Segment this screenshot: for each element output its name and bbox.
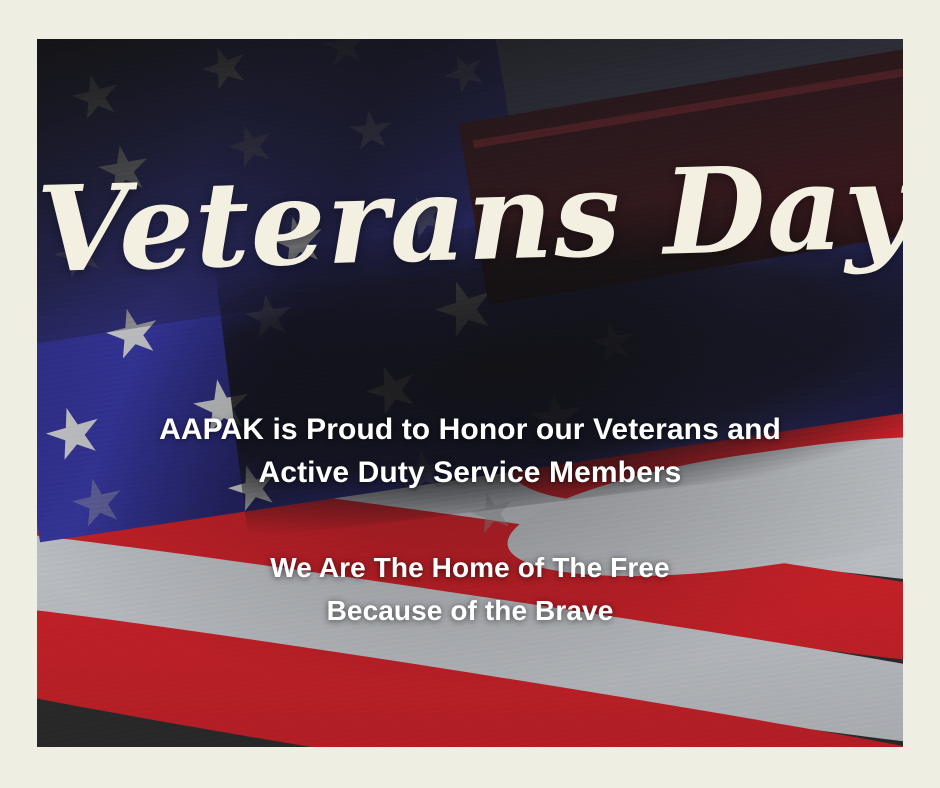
subline-line-1: We Are The Home of The Free bbox=[37, 547, 903, 590]
subline-line-2: Because of the Brave bbox=[37, 590, 903, 633]
page-title: Veterans Day bbox=[37, 147, 903, 289]
headline-line-2: Active Duty Service Members bbox=[37, 452, 903, 495]
veterans-day-poster: Veterans Day AAPAK is Proud to Honor our… bbox=[0, 0, 940, 788]
headline-line-1: AAPAK is Proud to Honor our Veterans and bbox=[37, 409, 903, 452]
poster-text-stack: Veterans Day AAPAK is Proud to Honor our… bbox=[37, 39, 903, 747]
headline-text: AAPAK is Proud to Honor our Veterans and… bbox=[37, 409, 903, 494]
american-flag-photo: Veterans Day AAPAK is Proud to Honor our… bbox=[37, 39, 903, 747]
subline-text: We Are The Home of The Free Because of t… bbox=[37, 547, 903, 632]
